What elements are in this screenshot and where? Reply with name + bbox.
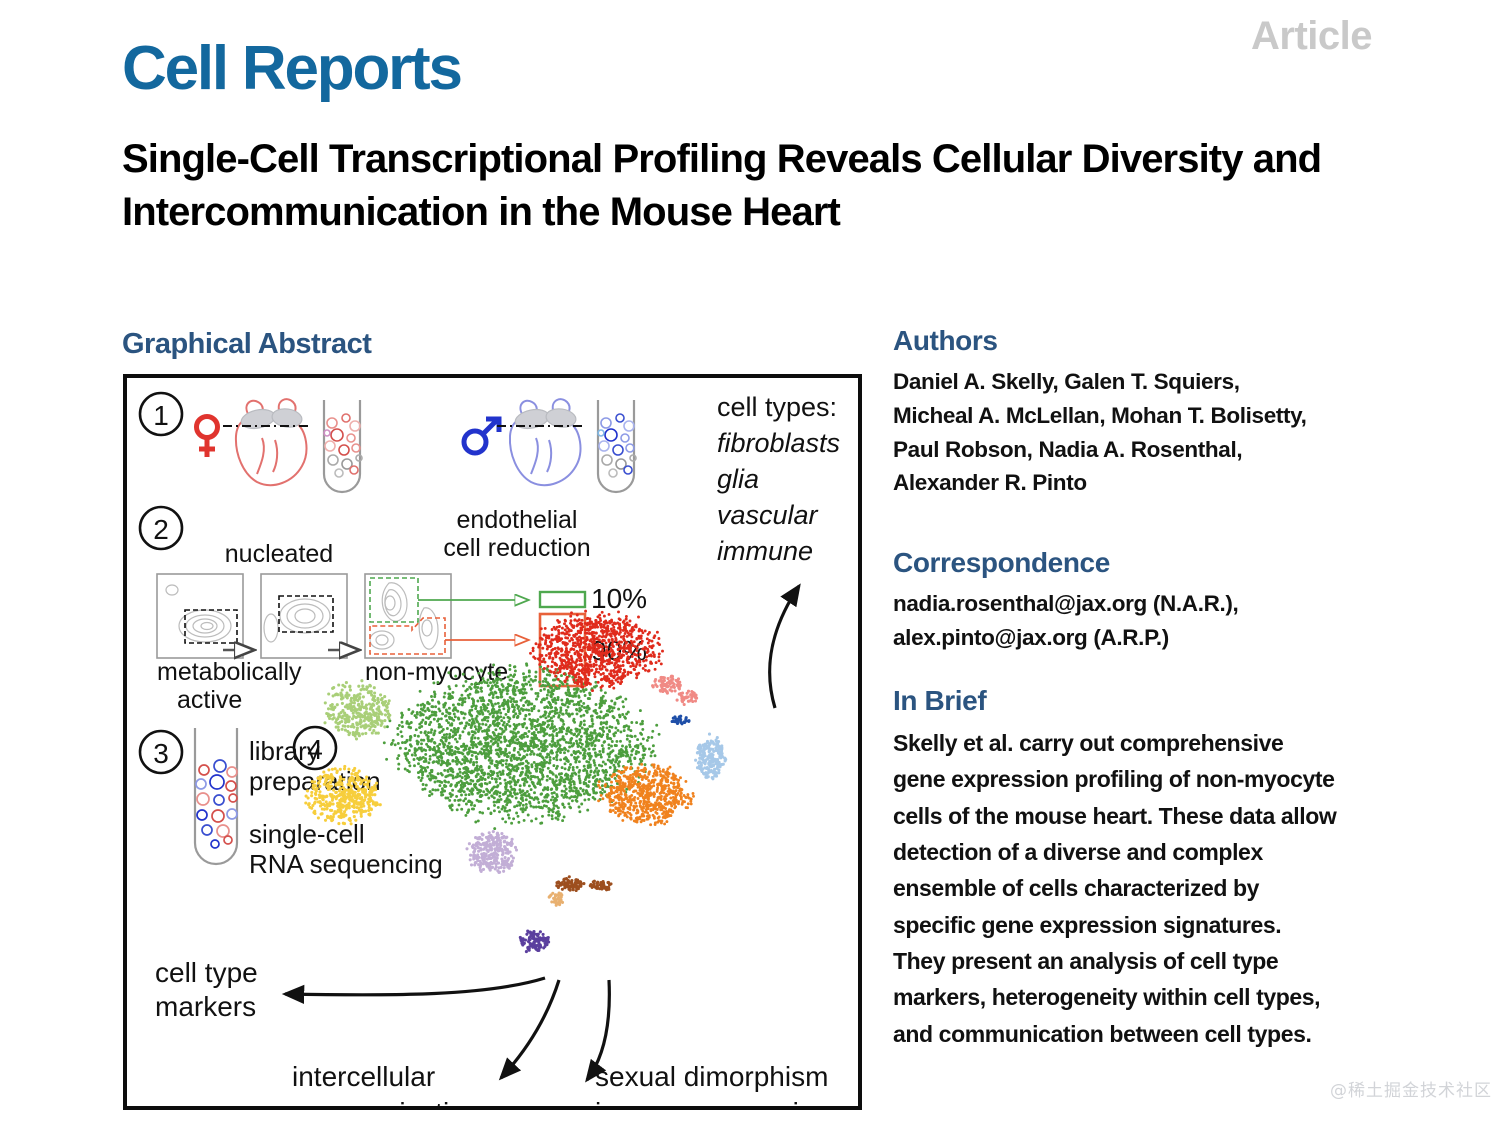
- tsne-cluster-endothelial-minor: [651, 675, 682, 695]
- gate2-label: nucleated: [225, 540, 333, 568]
- graphical-abstract-figure: 1: [127, 378, 858, 1106]
- tsne-cluster-endothelial-minor2: [676, 690, 699, 706]
- arrow-to-intercellular: [501, 980, 559, 1078]
- heart-female-atria: [240, 407, 304, 432]
- in-brief-heading: In Brief: [893, 685, 1393, 717]
- in-brief-section: In Brief Skelly et al. carry out compreh…: [893, 685, 1393, 1052]
- pct-top: 10%: [591, 583, 647, 614]
- output-intercell-2: communication: [292, 1097, 480, 1106]
- step-3-group: 3 library preparation single-cell RNA se…: [140, 728, 443, 879]
- tube-female: [324, 400, 362, 492]
- tsne-cluster-glial: [519, 929, 550, 953]
- author-line: Alexander R. Pinto: [893, 466, 1393, 500]
- in-brief-line: specific gene expression signatures.: [893, 907, 1393, 943]
- tsne-cluster-mural-2: [589, 880, 613, 892]
- heart-male-atria: [514, 407, 578, 432]
- authors-heading: Authors: [893, 325, 1393, 357]
- cell-types-label: cell types: fibroblasts glia vascular im…: [717, 392, 840, 566]
- cell-type-item-3: immune: [717, 536, 813, 566]
- cell-type-item-0: fibroblasts: [717, 428, 840, 458]
- in-brief-line: ensemble of cells characterized by: [893, 870, 1393, 906]
- step3-line-3: single-cell: [249, 819, 365, 849]
- graphical-abstract-panel: 1: [123, 374, 862, 1110]
- tube-male: [598, 400, 636, 492]
- reduction-label-2: cell reduction: [443, 534, 590, 562]
- journal-title: Cell Reports: [122, 38, 461, 100]
- article-type-tag: Article: [1251, 14, 1372, 59]
- tsne-cluster-B-cell: [465, 830, 518, 874]
- in-brief-line: and communication between cell types.: [893, 1016, 1393, 1052]
- tube-library: [195, 728, 237, 864]
- cell-type-item-1: glia: [717, 464, 759, 494]
- in-brief-line: cells of the mouse heart. These data all…: [893, 798, 1393, 834]
- tsne-cluster-pericyte: [548, 892, 564, 907]
- reduction-label-1: endothelial: [457, 506, 578, 534]
- watermark: @稀土掘金技术社区: [1330, 1076, 1492, 1101]
- author-line: Micheal A. McLellan, Mohan T. Bolisetty,: [893, 399, 1393, 433]
- in-brief-line: Skelly et al. carry out comprehensive: [893, 725, 1393, 761]
- in-brief-line: gene expression profiling of non-myocyte: [893, 761, 1393, 797]
- in-brief-line: markers, heterogeneity within cell types…: [893, 979, 1393, 1015]
- output-dimorph-1: sexual dimorphism: [595, 1061, 828, 1092]
- output-markers-1: cell type: [155, 957, 258, 988]
- correspondence-email-2[interactable]: alex.pinto@jax.org (A.R.P.): [893, 621, 1393, 655]
- correspondence-heading: Correspondence: [893, 547, 1393, 579]
- authors-section: Authors Daniel A. Skelly, Galen T. Squie…: [893, 325, 1393, 500]
- page-title: Single-Cell Transcriptional Profiling Re…: [122, 133, 1392, 239]
- step3-line-4: RNA sequencing: [249, 849, 443, 879]
- author-line: Daniel A. Skelly, Galen T. Squiers,: [893, 365, 1393, 399]
- correspondence-email-1[interactable]: nadia.rosenthal@jax.org (N.A.R.),: [893, 587, 1393, 621]
- author-line: Paul Robson, Nadia A. Rosenthal,: [893, 433, 1393, 467]
- tsne-cluster-lymphatic-EC: [671, 715, 691, 726]
- arrow-to-cell-types: [770, 586, 799, 708]
- tsne-cluster-T-cell: [694, 733, 727, 781]
- step-1-group: 1: [140, 393, 636, 492]
- facs-plot-nucleated: [261, 574, 347, 658]
- gate1-label-1: metabolically: [157, 658, 302, 686]
- female-symbol: [197, 417, 218, 458]
- facs-plot-non-myocyte: [365, 574, 451, 658]
- bar-10pct: [540, 592, 585, 607]
- svg-text:4: 4: [307, 734, 323, 765]
- svg-text:3: 3: [153, 738, 169, 769]
- tsne-cluster-mural: [555, 875, 585, 892]
- cell-type-item-2: vascular: [717, 500, 819, 530]
- svg-text:1: 1: [153, 400, 169, 431]
- output-markers-2: markers: [155, 991, 256, 1022]
- tube-male-cells: [598, 414, 636, 477]
- tube-female-cells: [324, 414, 362, 477]
- cell-types-header: cell types:: [717, 392, 837, 422]
- in-brief-line: They present an analysis of cell type: [893, 943, 1393, 979]
- svg-text:2: 2: [153, 514, 169, 545]
- facs-plot-metabolically-active: [157, 574, 243, 658]
- tsne-cluster-fibroblast-subset: [323, 679, 391, 740]
- output-intercell-1: intercellular: [292, 1061, 435, 1092]
- male-symbol: [464, 419, 499, 453]
- step-4-group: 4: [294, 610, 727, 953]
- step-2-group: 2 nucleated endothelial cell reduction m…: [140, 506, 647, 714]
- graphical-abstract-heading: Graphical Abstract: [122, 328, 371, 361]
- correspondence-section: Correspondence nadia.rosenthal@jax.org (…: [893, 547, 1393, 655]
- arrow-to-markers: [285, 978, 545, 995]
- in-brief-line: detection of a diverse and complex: [893, 834, 1393, 870]
- gate1-label-2: active: [177, 686, 242, 714]
- output-dimorph-2: in gene expression: [595, 1097, 830, 1106]
